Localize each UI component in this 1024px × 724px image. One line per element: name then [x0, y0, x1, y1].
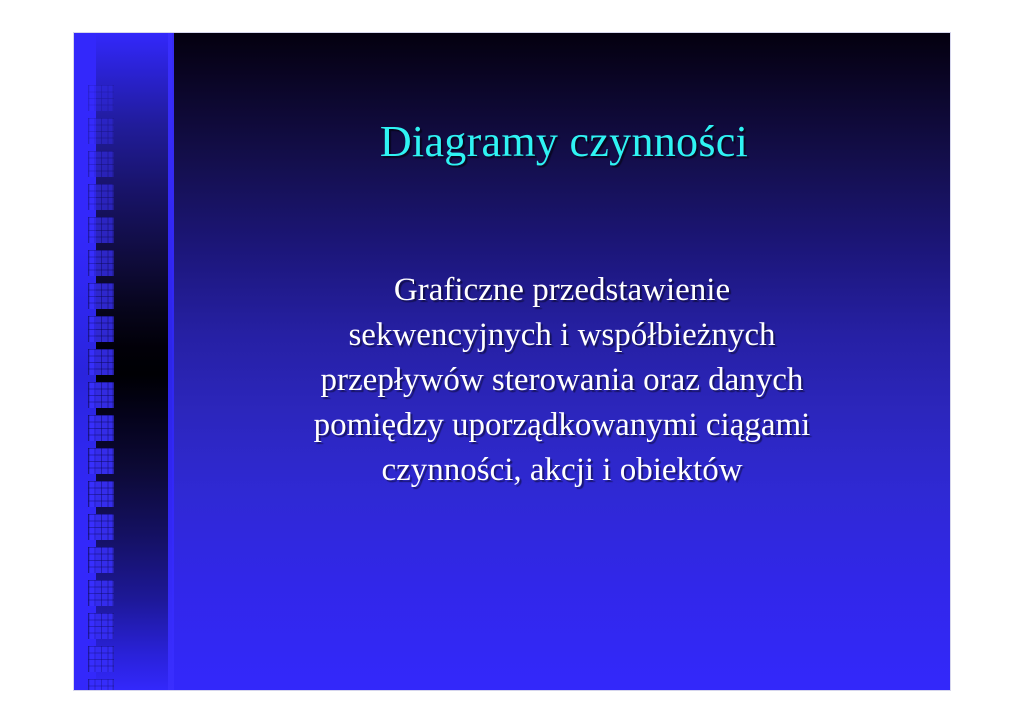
presentation-slide: Diagramy czynności Graficzne przedstawie… — [74, 33, 950, 690]
slide-body-line: pomiędzy uporządkowanymi ciągami — [242, 403, 882, 448]
textured-square-icon — [88, 646, 114, 672]
slide-body-line: czynności, akcji i obiektów — [242, 448, 882, 493]
textured-square-icon — [88, 448, 114, 474]
decorative-square-column — [88, 85, 114, 690]
textured-square-icon — [88, 250, 114, 276]
slide-background-accent-rule — [168, 33, 174, 690]
textured-square-icon — [88, 349, 114, 375]
textured-square-icon — [88, 217, 114, 243]
textured-square-icon — [88, 151, 114, 177]
textured-square-icon — [88, 415, 114, 441]
slide-body-line: Graficzne przedstawienie — [242, 268, 882, 313]
page-canvas: Diagramy czynności Graficzne przedstawie… — [0, 0, 1024, 724]
textured-square-icon — [88, 514, 114, 540]
slide-body-line: sekwencyjnych i współbieżnych — [242, 313, 882, 358]
textured-square-icon — [88, 118, 114, 144]
textured-square-icon — [88, 481, 114, 507]
textured-square-icon — [88, 382, 114, 408]
textured-square-icon — [88, 283, 114, 309]
textured-square-icon — [88, 316, 114, 342]
slide-title: Diagramy czynności — [254, 118, 874, 166]
textured-square-icon — [88, 580, 114, 606]
textured-square-icon — [88, 184, 114, 210]
textured-square-icon — [88, 613, 114, 639]
textured-square-icon — [88, 679, 114, 690]
slide-body-line: przepływów sterowania oraz danych — [242, 358, 882, 403]
slide-body-text: Graficzne przedstawieniesekwencyjnych i … — [242, 268, 882, 492]
textured-square-icon — [88, 547, 114, 573]
textured-square-icon — [88, 85, 114, 111]
